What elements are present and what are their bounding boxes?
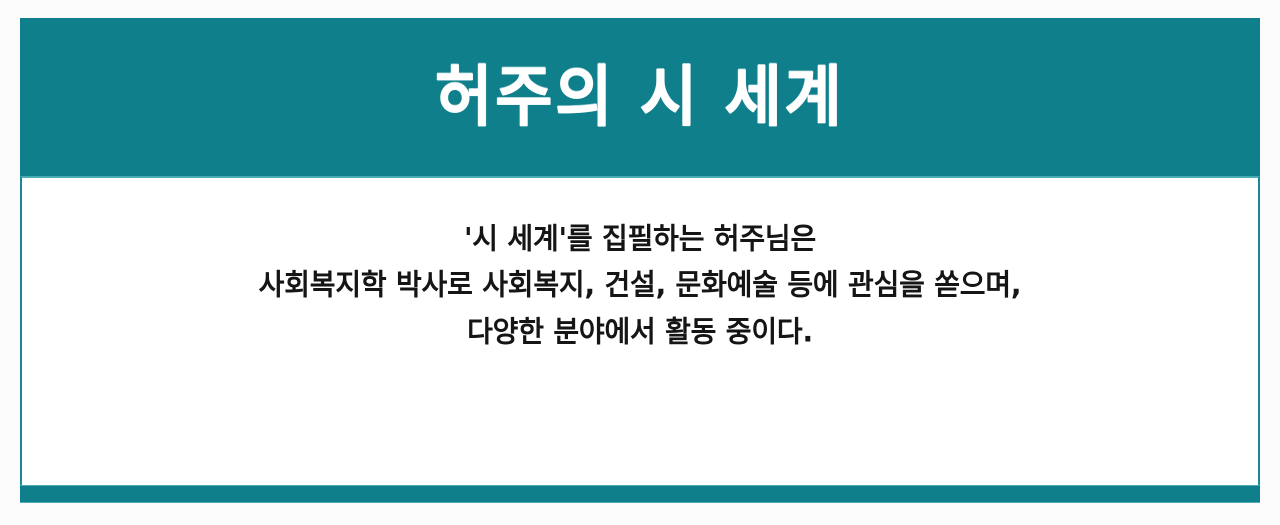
description-line-2: 사회복지학 박사로 사회복지, 건설, 문화예술 등에 관심을 쏟으며, xyxy=(259,262,1022,310)
page-title: 허주의 시 세계 xyxy=(435,64,844,130)
description-line-1: '시 세계'를 집필하는 허주님은 xyxy=(464,215,816,263)
description-line-3: 다양한 분야에서 활동 중이다. xyxy=(467,308,813,356)
header-banner: 허주의 시 세계 xyxy=(20,18,1260,176)
footer-accent-bar xyxy=(20,485,1260,503)
description-panel: '시 세계'를 집필하는 허주님은 사회복지학 박사로 사회복지, 건설, 문화… xyxy=(20,176,1260,485)
profile-card: 허주의 시 세계 '시 세계'를 집필하는 허주님은 사회복지학 박사로 사회복… xyxy=(20,18,1260,503)
